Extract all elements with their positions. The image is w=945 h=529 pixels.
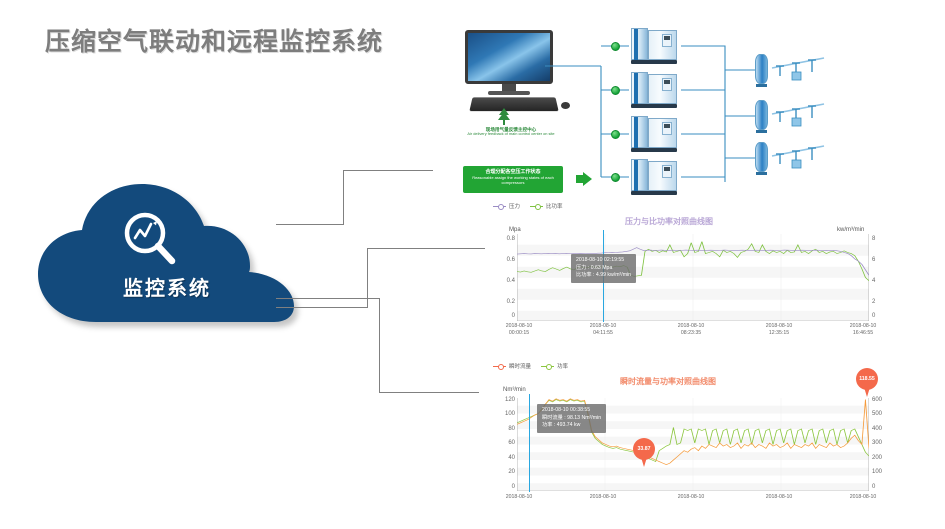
chart2-ytick-left: 40	[493, 455, 515, 461]
chart2-ytick-right: 500	[872, 411, 890, 417]
chart1-xtick: 2018-08-10 04:11:55	[577, 323, 629, 336]
magnifier-chart-icon	[120, 209, 182, 271]
air-tank-foot	[756, 130, 767, 133]
chart1-ytick-left: 0	[493, 313, 515, 319]
chart2-marker-min[interactable]: 33.87	[633, 438, 655, 468]
chart2-ylabel-left: Nm³/min	[503, 387, 526, 393]
tooltip-row: 比功率 : 4.99 kw/m³/min	[576, 272, 631, 280]
topology-wiring	[433, 22, 933, 197]
monitoring-cloud[interactable]: 监控系统	[32, 182, 302, 327]
xtick-date: 2018-08-10	[766, 494, 793, 500]
legend-marker-icon	[493, 363, 506, 369]
xtick-date: 2018-08-10	[506, 494, 533, 500]
air-tank-foot	[756, 84, 767, 87]
chart2-ytick-right: 100	[872, 469, 890, 475]
xtick-date: 2018-08-10	[766, 323, 793, 329]
compressor-display	[664, 167, 670, 171]
chart1-xtick: 2018-08-10 16:46:55	[837, 323, 889, 336]
system-topology-panel: 现场用气量反馈主控中心 Air delivery feedback of mai…	[433, 22, 933, 197]
status-dot-4	[611, 173, 620, 182]
chart1-ytick-left: 0.4	[493, 278, 515, 284]
chart2-ytick-left: 0	[493, 484, 515, 490]
compressor-stripe	[634, 73, 638, 105]
cloud-label: 监控系统	[32, 272, 302, 301]
chart1-plot-area	[517, 234, 869, 321]
chart1-ytick-right: 0	[872, 313, 886, 319]
compressor-display	[664, 36, 670, 40]
compressor-body-left	[631, 159, 648, 191]
chart2-title: 瞬时流量与功率对照曲线图	[620, 376, 716, 387]
chart1-ytick-right: 6	[872, 257, 886, 263]
pipeline-icon	[770, 140, 827, 176]
chart2-ytick-left: 120	[493, 397, 515, 403]
page-title: 压缩空气联动和远程监控系统	[45, 22, 383, 58]
compressor-base	[631, 60, 677, 64]
connector-line-3	[276, 298, 476, 393]
compressor-stripe	[634, 29, 638, 61]
compressor-2[interactable]	[631, 72, 677, 108]
legend-item-specific-power[interactable]: 比功率	[530, 202, 563, 210]
legend-label: 比功率	[546, 202, 563, 210]
compressor-1[interactable]	[631, 28, 677, 64]
chart2-xtick: 2018-08-10	[493, 494, 545, 501]
tooltip-timestamp: 2018-08-10 00:38:55	[542, 407, 601, 415]
chart2-ytick-left: 80	[493, 426, 515, 432]
legend-label: 压力	[509, 202, 520, 210]
xtick-time: 04:11:55	[593, 330, 613, 336]
pressure-chart-panel[interactable]: 压力 比功率 压力与比功率对照曲线图 Mpa kw/m³/min 0.8 0.6…	[485, 200, 895, 335]
pipeline-icon	[770, 52, 827, 88]
connector-line-1	[276, 170, 436, 225]
air-tank-unit-1[interactable]	[755, 52, 827, 88]
air-tank-foot	[756, 172, 767, 175]
air-tank	[755, 54, 768, 84]
chart2-legend: 瞬时流量 功率	[493, 362, 568, 370]
chart2-ytick-right: 400	[872, 426, 890, 432]
legend-item-flow[interactable]: 瞬时流量	[493, 362, 531, 370]
xtick-time: 00:00:15	[509, 330, 529, 336]
chart2-xtick: 2018-08-10	[837, 494, 889, 501]
chart1-ytick-right: 2	[872, 299, 886, 305]
xtick-date: 2018-08-10	[850, 494, 877, 500]
compressor-3[interactable]	[631, 116, 677, 152]
tooltip-row: 瞬时流量 : 98.13 Nm³/min	[542, 415, 601, 423]
chart1-ylabel-right: kw/m³/min	[837, 227, 864, 233]
chart2-ytick-right: 300	[872, 440, 890, 446]
legend-label: 瞬时流量	[509, 362, 531, 370]
chart2-xtick: 2018-08-10	[665, 494, 717, 501]
xtick-time: 08:23:35	[681, 330, 701, 336]
chart1-ylabel-left: Mpa	[509, 227, 521, 233]
compressor-body-left	[631, 28, 648, 60]
compressor-base	[631, 148, 677, 152]
chart1-legend: 压力 比功率	[493, 202, 563, 210]
compressor-stripe	[634, 160, 638, 192]
xtick-date: 2018-08-10	[590, 323, 617, 329]
compressor-base	[631, 191, 677, 195]
compressor-body-left	[631, 116, 648, 148]
chart1-ytick-right: 4	[872, 278, 886, 284]
slide-canvas: 压缩空气联动和远程监控系统 监控系统	[0, 0, 945, 529]
chart2-xtick: 2018-08-10	[577, 494, 629, 501]
chart1-xtick: 2018-08-10 00:00:15	[493, 323, 545, 336]
compressor-body-left	[631, 72, 648, 104]
air-tank	[755, 100, 768, 130]
status-dot-1	[611, 42, 620, 51]
tooltip-timestamp: 2018-08-10 02:19:55	[576, 257, 631, 265]
chart1-ytick-right: 8	[872, 236, 886, 242]
chart1-xtick: 2018-08-10 08:23:35	[665, 323, 717, 336]
chart2-ytick-right: 200	[872, 455, 890, 461]
chart1-ytick-left: 0.6	[493, 257, 515, 263]
compressor-display	[664, 80, 670, 84]
compressor-4[interactable]	[631, 159, 677, 195]
chart1-title: 压力与比功率对照曲线图	[625, 216, 713, 227]
xtick-time: 12:35:15	[769, 330, 789, 336]
chart2-ytick-left: 100	[493, 411, 515, 417]
xtick-date: 2018-08-10	[850, 323, 877, 329]
chart2-ytick-left: 60	[493, 440, 515, 446]
legend-marker-icon	[530, 203, 543, 209]
air-tank	[755, 142, 768, 172]
xtick-date: 2018-08-10	[678, 323, 705, 329]
balloon-value: 33.87	[633, 438, 655, 460]
xtick-time: 16:46:55	[853, 330, 873, 336]
air-tank-unit-2[interactable]	[755, 98, 827, 134]
legend-item-power[interactable]: 功率	[541, 362, 568, 370]
compressor-stripe	[634, 117, 638, 149]
tooltip-row: 压力 : 0.63 Mpa	[576, 265, 631, 273]
chart2-ytick-right: 0	[872, 484, 890, 490]
chart1-ytick-left: 0.8	[493, 236, 515, 242]
xtick-date: 2018-08-10	[678, 494, 705, 500]
xtick-date: 2018-08-10	[590, 494, 617, 500]
xtick-date: 2018-08-10	[506, 323, 533, 329]
chart1-ytick-left: 0.2	[493, 299, 515, 305]
status-dot-3	[611, 130, 620, 139]
legend-label: 功率	[557, 362, 568, 370]
flow-power-chart-panel[interactable]: 瞬时流量 功率 瞬时流量与功率对照曲线图 Nm³/min 120 100 80 …	[485, 360, 895, 525]
chart2-marker-max[interactable]: 118.55	[856, 368, 878, 398]
balloon-value: 118.55	[856, 368, 878, 390]
chart2-xtick: 2018-08-10	[753, 494, 805, 501]
status-dot-2	[611, 86, 620, 95]
chart2-cursor-line	[529, 394, 530, 492]
chart2-tooltip: 2018-08-10 00:38:55 瞬时流量 : 98.13 Nm³/min…	[537, 404, 606, 433]
chart1-xtick: 2018-08-10 12:35:15	[753, 323, 805, 336]
pipeline-icon	[770, 98, 827, 134]
chart1-tooltip: 2018-08-10 02:19:55 压力 : 0.63 Mpa 比功率 : …	[571, 254, 636, 283]
compressor-base	[631, 104, 677, 108]
legend-marker-icon	[493, 203, 506, 209]
legend-item-pressure[interactable]: 压力	[493, 202, 520, 210]
compressor-display	[664, 124, 670, 128]
legend-marker-icon	[541, 363, 554, 369]
tooltip-row: 功率 : 493.74 kw	[542, 422, 601, 430]
chart2-ytick-left: 20	[493, 469, 515, 475]
air-tank-unit-3[interactable]	[755, 140, 827, 176]
